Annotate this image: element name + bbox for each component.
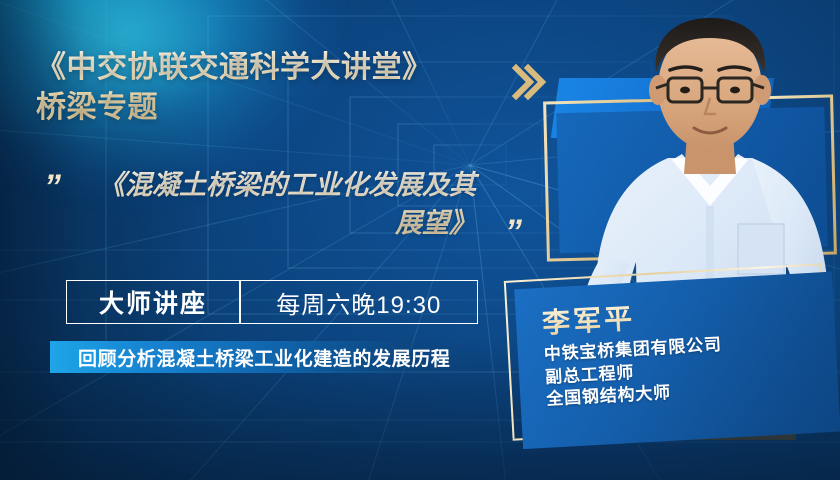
lecture-poster: 《中交协联交通科学大讲堂》 桥梁专题 ” 《混凝土桥梁的工业化发展及其展望》 ”… (0, 0, 840, 480)
quote-mark-close: ” (505, 215, 522, 249)
speaker-info-panel: 李军平 中铁宝桥集团有限公司 副总工程师 全国钢结构大师 (504, 263, 830, 441)
lecture-title-text: 《混凝土桥梁的工业化发展及其展望》 (36, 166, 506, 243)
lecture-info-box: 大师讲座 每周六晚19:30 (66, 280, 478, 324)
quote-mark-open: ” (44, 170, 61, 204)
headline-line-2: 桥梁专题 (36, 88, 556, 128)
lecture-type-label: 大师讲座 (67, 281, 239, 323)
headline-line-1: 《中交协联交通科学大讲堂》 (36, 51, 433, 84)
lecture-title-quote: ” 《混凝土桥梁的工业化发展及其展望》 ” (36, 166, 506, 243)
speaker-panel-body: 李军平 中铁宝桥集团有限公司 副总工程师 全国钢结构大师 (514, 272, 840, 450)
subtitle-text: 回顾分析混凝土桥梁工业化建造的发展历程 (78, 344, 450, 371)
poster-headline: 《中交协联交通科学大讲堂》 桥梁专题 (36, 48, 556, 127)
subtitle-strip: 回顾分析混凝土桥梁工业化建造的发展历程 (50, 341, 480, 373)
lecture-schedule: 每周六晚19:30 (241, 281, 477, 323)
